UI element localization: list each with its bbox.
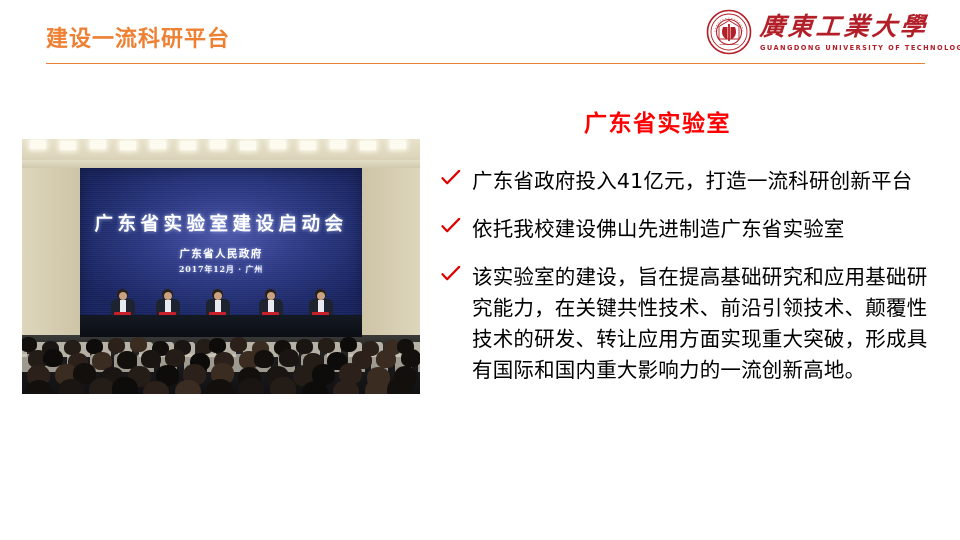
banner-title: 广东省实验室建设启动会 — [80, 210, 362, 236]
photo-head-table — [80, 315, 362, 337]
check-icon — [441, 214, 472, 234]
ceiling-light — [90, 140, 106, 149]
list-item-text: 广东省政府投入41亿元，打造一流科研创新平台 — [472, 166, 912, 197]
audience-head — [401, 349, 420, 367]
check-icon — [441, 166, 472, 186]
ceiling-light — [360, 141, 376, 150]
ceiling-light — [210, 140, 226, 149]
ceiling-light — [180, 141, 196, 150]
audience-head — [340, 337, 357, 352]
list-item-text: 依托我校建设佛山先进制造广东省实验室 — [472, 214, 845, 245]
audience-head — [296, 339, 313, 354]
university-logo: 廣東工業大學 GUANGDONG UNIVERSITY OF TECHNOLOG… — [706, 6, 936, 58]
list-item: 广东省政府投入41亿元，打造一流科研创新平台 — [441, 166, 928, 197]
presentation-slide: 建设一流科研平台 廣東工業大學 GUANGDONG UNIVERSITY OF … — [0, 0, 960, 540]
bullet-list: 广东省政府投入41亿元，打造一流科研创新平台 依托我校建设佛山先进制造广东省实验… — [441, 166, 928, 386]
audience-head — [130, 337, 147, 352]
audience-head — [279, 349, 299, 367]
conference-photo: 广东省实验室建设启动会 广东省人民政府 2017年12月 · 广州 — [22, 139, 420, 394]
photo-audience — [22, 335, 420, 394]
list-item: 该实验室的建设，旨在提高基础研究和应用基础研究能力，在关键共性技术、前沿引领技术… — [441, 262, 928, 386]
logo-wordmark: 廣東工業大學 GUANGDONG UNIVERSITY OF TECHNOLOG… — [760, 12, 960, 53]
ceiling-light — [150, 140, 166, 149]
check-icon — [441, 262, 472, 282]
audience-head — [112, 377, 138, 394]
ceiling-light — [30, 140, 46, 149]
ceiling-light — [330, 140, 346, 149]
audience-head — [302, 381, 328, 394]
audience-head — [318, 338, 335, 353]
audience-head — [207, 379, 233, 394]
audience-head — [141, 350, 161, 368]
audience-head — [209, 338, 226, 353]
logo-chinese-name: 廣東工業大學 — [759, 12, 960, 41]
ceiling-light — [120, 141, 136, 150]
ceiling-light — [390, 140, 406, 149]
audience-head — [270, 377, 296, 394]
banner-date: 2017年12月 · 广州 — [80, 264, 362, 275]
page-title: 建设一流科研平台 — [46, 27, 230, 53]
ceiling-light — [300, 141, 316, 150]
logo-english-name: GUANGDONG UNIVERSITY OF TECHNOLOGY — [760, 44, 960, 53]
audience-head — [376, 350, 396, 368]
list-item-text: 该实验室的建设，旨在提高基础研究和应用基础研究能力，在关键共性技术、前沿引领技术… — [472, 262, 928, 386]
title-divider — [46, 63, 925, 64]
ceiling-light — [60, 141, 76, 150]
banner-subtitle: 广东省人民政府 — [80, 246, 362, 261]
content-heading: 广东省实验室 — [584, 110, 731, 138]
audience-head — [230, 337, 247, 352]
gdut-seal-icon — [706, 9, 752, 55]
audience-head — [58, 379, 84, 394]
ceiling-light — [240, 141, 256, 150]
ceiling-light — [270, 140, 286, 149]
audience-head — [254, 350, 274, 368]
list-item: 依托我校建设佛山先进制造广东省实验室 — [441, 214, 928, 245]
